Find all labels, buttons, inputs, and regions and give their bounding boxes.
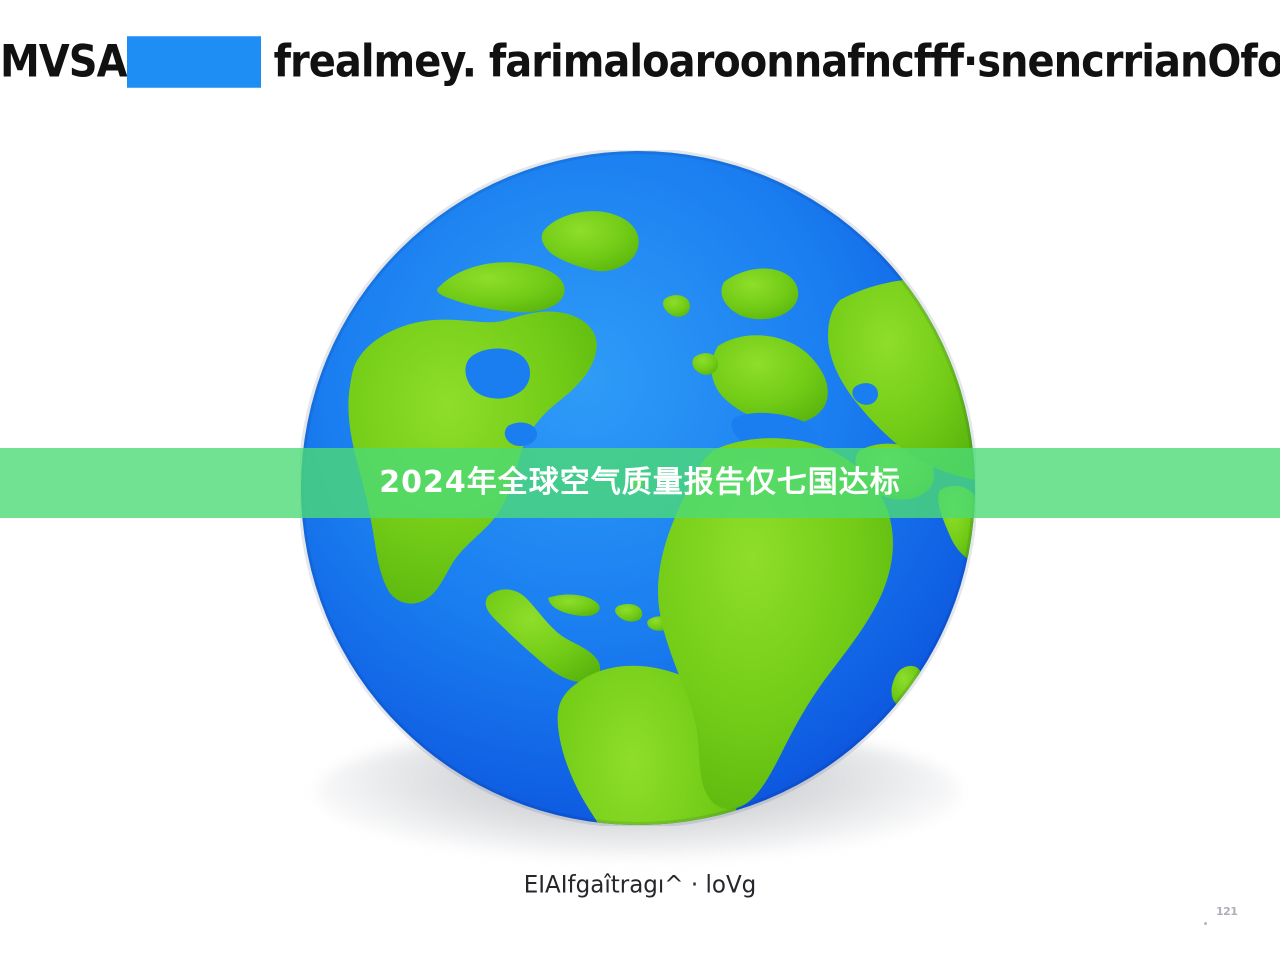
corner-watermark-dot — [1204, 922, 1207, 925]
headline-plain-start: MVSA — [0, 36, 127, 88]
bottom-caption: EIAIfgaîtragı^ · loVg — [0, 871, 1280, 898]
banner-title-text: 2024年全球空气质量报告仅七国达标 — [379, 468, 901, 498]
green-title-banner: 2024年全球空气质量报告仅七国达标 — [0, 448, 1280, 518]
corner-watermark: 121 — [1216, 905, 1237, 918]
headline-plain-end: frealmey. farimaloaroonnafncfff·snencrri… — [261, 36, 1280, 88]
page-root: MVSAIVENU frealmey. farimaloaroonnafncff… — [0, 0, 1280, 960]
headline-highlighted-text: IVENU — [127, 36, 261, 88]
top-headline: MVSAIVENU frealmey. farimaloaroonnafncff… — [0, 34, 1280, 90]
